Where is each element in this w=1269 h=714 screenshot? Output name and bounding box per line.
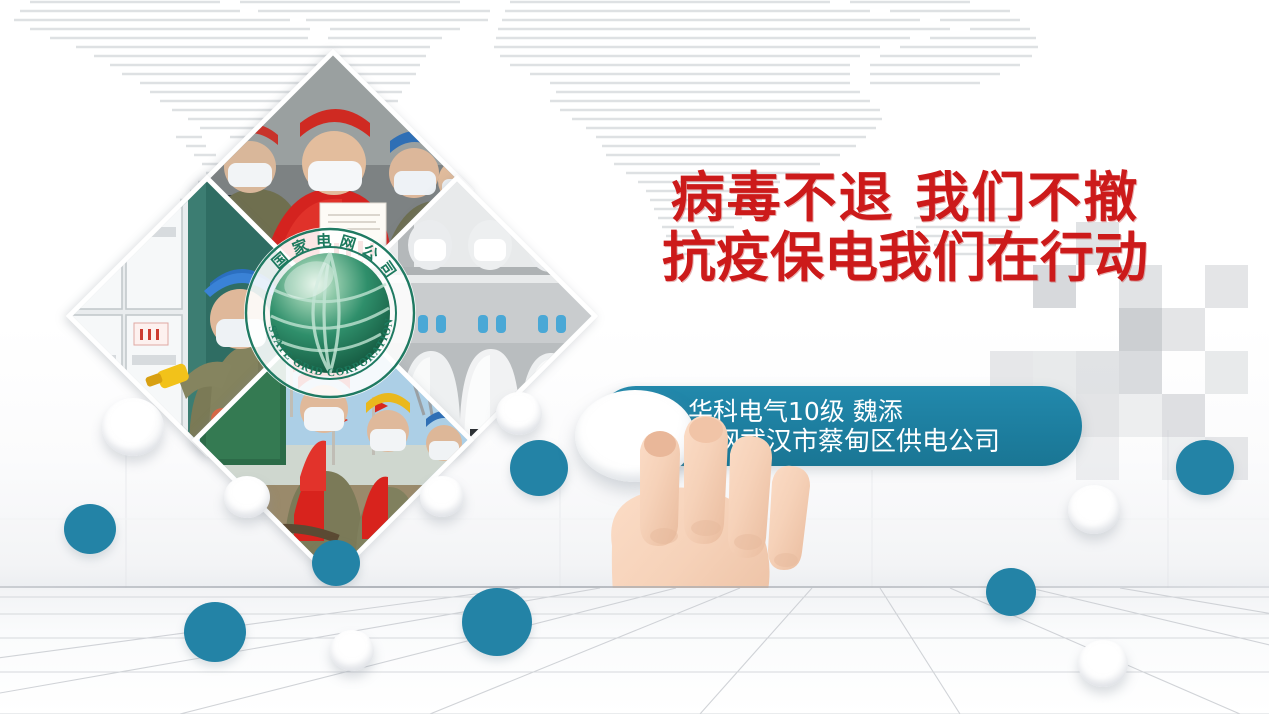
decorative-accent-dot: [986, 568, 1036, 616]
decorative-accent-dot: [462, 588, 532, 656]
slide-title: 病毒不退 我们不撤 抗疫保电我们在行动: [640, 168, 1170, 289]
decorative-white-disc: [1068, 485, 1120, 534]
decorative-white-disc: [102, 398, 164, 456]
photo-collage: 国家电网公司 STATE GRID CORPORATION OF CHINA: [95, 78, 565, 548]
decorative-white-disc: [330, 630, 374, 671]
decorative-white-disc: [496, 392, 542, 435]
title-line-1: 病毒不退 我们不撤: [640, 168, 1170, 228]
decorative-accent-dot: [1176, 440, 1234, 495]
decorative-accent-dot: [184, 602, 246, 662]
decorative-accent-dot: [312, 540, 360, 586]
state-grid-logo: 国家电网公司 STATE GRID CORPORATION OF CHINA: [241, 224, 419, 402]
decorative-white-disc: [420, 476, 464, 517]
presentation-slide: 国家电网公司 STATE GRID CORPORATION OF CHINA 病…: [0, 0, 1269, 714]
decorative-accent-dot: [64, 504, 116, 554]
title-line-2: 抗疫保电我们在行动: [640, 228, 1170, 288]
decorative-white-disc: [224, 476, 270, 518]
decorative-white-disc: [1078, 640, 1128, 687]
